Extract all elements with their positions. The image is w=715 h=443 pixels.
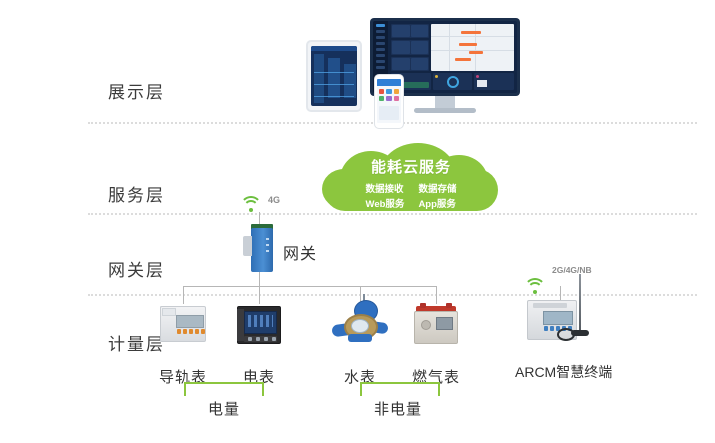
wifi-signal-icon <box>524 278 546 294</box>
display-layer-devices <box>300 12 540 117</box>
connector-leg-din <box>183 286 184 304</box>
bracket-non-electricity <box>360 382 440 396</box>
terminal-label: ARCM智慧终端 <box>515 362 605 382</box>
electric-meter-icon <box>237 306 281 344</box>
connector-terminal <box>560 286 561 300</box>
cloud-service-2: 数据存储 <box>418 181 456 195</box>
cloud-service-node: 能耗云服务 数据接收 数据存储 Web服务 App服务 <box>318 143 504 215</box>
connector-meter-bus <box>183 286 436 287</box>
gateway-device <box>243 224 277 272</box>
cloud-title: 能耗云服务 <box>371 156 451 177</box>
cloud-service-3: Web服务 <box>366 196 405 210</box>
bracket-label-non-electricity: 非电量 <box>358 398 438 419</box>
gateway-label: 网关 <box>283 240 317 264</box>
arcm-terminal-icon <box>527 300 593 340</box>
layer-label-metering: 计量层 <box>108 330 165 355</box>
architecture-diagram: 展示层 服务层 网关层 计量层 <box>0 0 715 443</box>
layer-separator-3 <box>88 294 697 296</box>
wifi-signal-icon <box>240 196 262 212</box>
connector-gateway-cloud <box>259 212 260 224</box>
bracket-electricity <box>184 382 264 396</box>
connector-leg-gas <box>436 286 437 304</box>
smartphone-device <box>374 74 404 129</box>
bracket-label-electricity: 电量 <box>184 398 264 419</box>
layer-label-service: 服务层 <box>108 181 165 206</box>
cloud-service-4: App服务 <box>418 196 456 210</box>
tablet-device <box>306 40 362 112</box>
connector-gateway-drop <box>259 272 260 286</box>
water-meter-icon <box>332 300 388 344</box>
antenna-icon <box>579 274 581 332</box>
monitor-map-panel <box>431 24 514 71</box>
gateway-network-label: 4G <box>268 195 280 205</box>
cloud-service-1: 数据接收 <box>366 181 405 195</box>
monitor-stand-base <box>414 108 476 113</box>
connector-leg-electric <box>259 286 260 304</box>
layer-label-display: 展示层 <box>108 78 165 103</box>
din-rail-meter-icon <box>160 306 206 342</box>
gas-meter-icon <box>414 306 458 344</box>
terminal-network-label: 2G/4G/NB <box>552 265 592 275</box>
layer-label-gateway: 网关层 <box>108 256 165 281</box>
